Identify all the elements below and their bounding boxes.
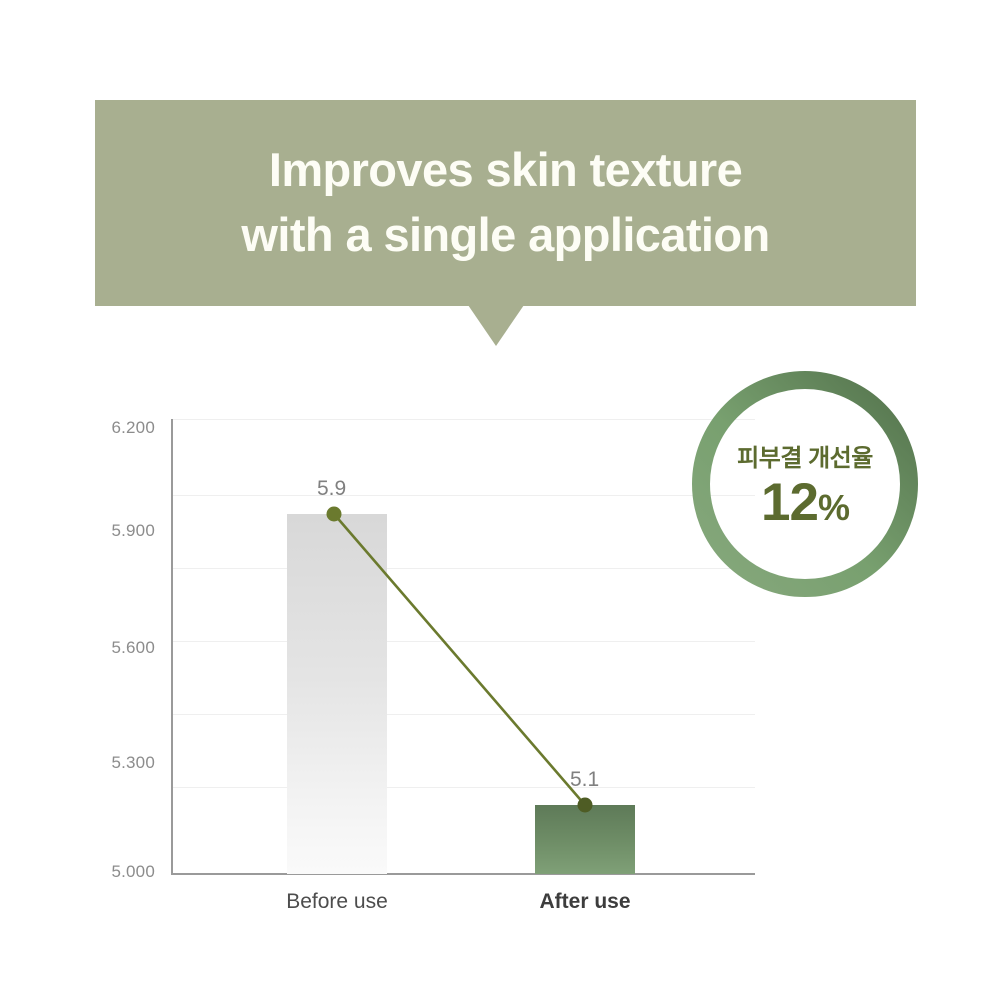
trend-point-after[interactable] xyxy=(578,798,593,813)
infographic-page: Improves skin texture with a single appl… xyxy=(0,0,1000,1000)
badge-content: 피부결 개선율 12% xyxy=(692,371,918,597)
badge-percent-sign: % xyxy=(818,487,849,528)
trend-line xyxy=(334,514,585,805)
badge-value-text: 12% xyxy=(761,475,849,531)
trend-point-before[interactable] xyxy=(327,507,342,522)
data-label-before: 5.9 xyxy=(317,477,346,501)
data-label-after: 5.1 xyxy=(570,768,599,792)
badge-number: 12 xyxy=(761,473,818,532)
badge-label-text: 피부결 개선율 xyxy=(737,438,873,473)
improvement-badge: 피부결 개선율 12% xyxy=(692,371,918,597)
x-axis-label-before-use: Before use xyxy=(227,890,447,914)
x-axis-label-after-use: After use xyxy=(475,890,695,914)
